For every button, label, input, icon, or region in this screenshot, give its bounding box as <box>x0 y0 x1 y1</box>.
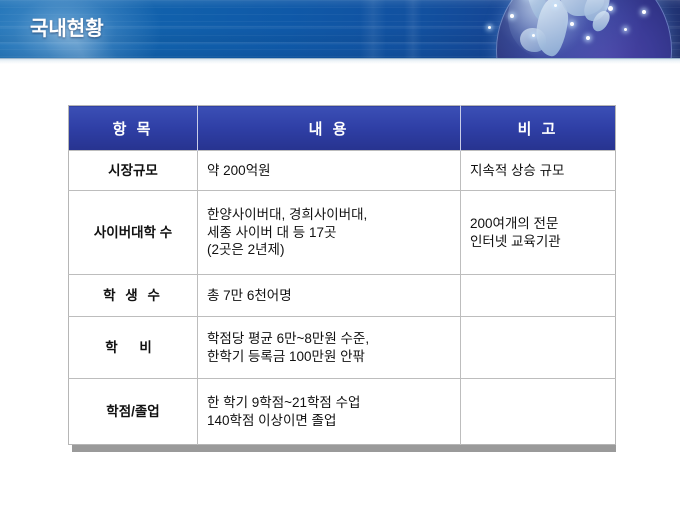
globe-highlight <box>508 0 594 58</box>
table-row: 학점/졸업 한 학기 9학점~21학점 수업 140학점 이상이면 졸업 <box>69 379 616 445</box>
cell-line: 한양사이버대, 경희사이버대, <box>207 206 451 224</box>
cell-item: 학점/졸업 <box>69 379 198 445</box>
table-header-row-group: 항 목 내 용 비 고 <box>69 106 616 151</box>
table-row: 시장규모 약 200억원 지속적 상승 규모 <box>69 151 616 191</box>
cell-item: 사이버대학 수 <box>69 191 198 275</box>
cell-line: 한 학기 9학점~21학점 수업 <box>207 394 451 412</box>
banner-vertical-band-1 <box>360 0 386 58</box>
globe-node-dot <box>624 28 627 31</box>
status-table: 항 목 내 용 비 고 시장규모 약 200억원 지속적 상승 규모 사이버대학… <box>68 105 616 445</box>
globe-landmass-icon <box>580 0 613 25</box>
globe-node-dot <box>488 26 491 29</box>
globe-node-dot <box>570 22 574 26</box>
cell-note <box>461 317 616 379</box>
cell-line: 140학점 이상이면 졸업 <box>207 412 451 430</box>
cell-note <box>461 275 616 317</box>
globe-landmass-icon <box>589 8 612 34</box>
cell-line: 200여개의 전문 <box>470 215 606 233</box>
cell-note: 200여개의 전문 인터넷 교육기관 <box>461 191 616 275</box>
cell-note <box>461 379 616 445</box>
cell-line: 세종 사이버 대 등 17곳 <box>207 224 451 242</box>
cell-item: 시장규모 <box>69 151 198 191</box>
globe-graphic <box>474 0 680 58</box>
globe-node-dot <box>554 4 557 7</box>
cell-content: 약 200억원 <box>198 151 461 191</box>
cell-item: 학 비 <box>69 317 198 379</box>
column-header-item: 항 목 <box>69 106 198 151</box>
cell-content: 학점당 평균 6만~8만원 수준, 한학기 등록금 100만원 안팎 <box>198 317 461 379</box>
table-row: 사이버대학 수 한양사이버대, 경희사이버대, 세종 사이버 대 등 17곳 (… <box>69 191 616 275</box>
table-row: 학 생 수 총 7만 6천어명 <box>69 275 616 317</box>
globe-node-dot <box>608 6 613 11</box>
globe-landmass-icon <box>520 28 546 52</box>
globe-node-dot <box>510 14 514 18</box>
globe-landmass-icon <box>533 0 571 58</box>
globe-sphere-icon <box>496 0 672 58</box>
table-body: 시장규모 약 200억원 지속적 상승 규모 사이버대학 수 한양사이버대, 경… <box>69 151 616 445</box>
globe-node-dot <box>532 34 535 37</box>
cell-content: 한 학기 9학점~21학점 수업 140학점 이상이면 졸업 <box>198 379 461 445</box>
table-header-row: 항 목 내 용 비 고 <box>69 106 616 151</box>
cell-line: 총 7만 6천어명 <box>207 287 451 305</box>
globe-node-dot <box>642 10 646 14</box>
cell-note: 지속적 상승 규모 <box>461 151 616 191</box>
banner-vertical-band-2 <box>404 0 422 58</box>
column-header-content: 내 용 <box>198 106 461 151</box>
cell-content: 총 7만 6천어명 <box>198 275 461 317</box>
cell-line: (2곳은 2년제) <box>207 241 451 259</box>
cell-item: 학 생 수 <box>69 275 198 317</box>
column-header-note: 비 고 <box>461 106 616 151</box>
globe-landmass-icon <box>523 0 550 21</box>
cell-line: 약 200억원 <box>207 162 451 180</box>
page-title: 국내현황 <box>30 12 104 41</box>
cell-line: 한학기 등록금 100만원 안팎 <box>207 348 451 366</box>
cell-line: 인터넷 교육기관 <box>470 233 606 251</box>
cell-content: 한양사이버대, 경희사이버대, 세종 사이버 대 등 17곳 (2곳은 2년제) <box>198 191 461 275</box>
cell-line: 학점당 평균 6만~8만원 수준, <box>207 330 451 348</box>
globe-landmass-icon <box>560 0 604 16</box>
globe-node-dot <box>586 36 590 40</box>
globe-rim <box>496 0 672 58</box>
header-underline-divider <box>0 58 680 64</box>
cell-line: 지속적 상승 규모 <box>470 162 606 180</box>
table-row: 학 비 학점당 평균 6만~8만원 수준, 한학기 등록금 100만원 안팎 <box>69 317 616 379</box>
slide-header-banner: 국내현황 <box>0 0 680 58</box>
